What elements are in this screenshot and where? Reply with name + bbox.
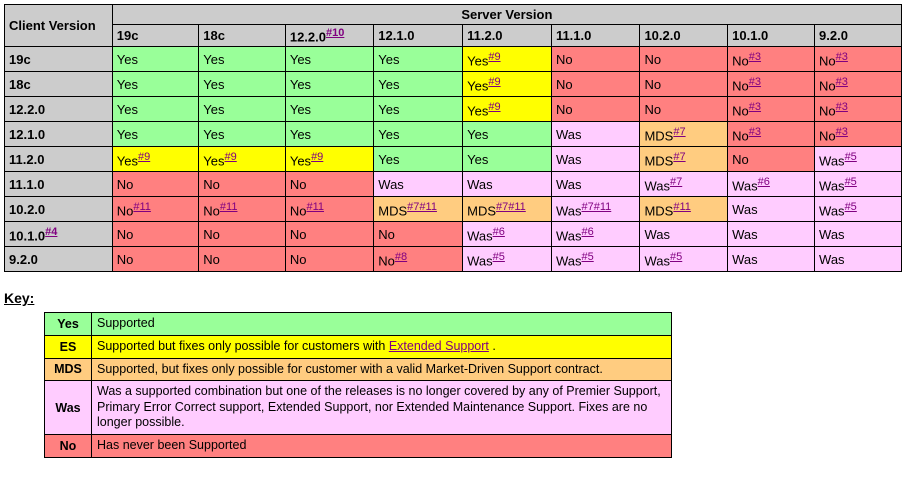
footnote-link[interactable]: #7 (673, 151, 685, 163)
footnote-anchor[interactable]: #9 (138, 151, 150, 163)
support-status-cell: Was (728, 222, 815, 247)
support-status-cell: No (728, 147, 815, 172)
support-status-cell: No (285, 172, 373, 197)
key-body: YesSupportedESSupported but fixes only p… (45, 313, 672, 457)
support-status-cell: Yes#9 (285, 147, 373, 172)
support-status-label: Was (819, 178, 845, 193)
server-version-column-header: 19c (112, 25, 199, 47)
support-status-cell: No (199, 222, 286, 247)
table-row: 19cYesYesYesYesYes#9NoNoNo#3No#3 (5, 47, 902, 72)
support-status-label: Was (819, 153, 845, 168)
support-status-cell: No (640, 47, 728, 72)
key-row: ESSupported but fixes only possible for … (45, 335, 672, 358)
support-status-label: No (203, 252, 220, 267)
support-status-cell: Yes (112, 47, 199, 72)
client-version-row-header: 10.2.0 (5, 197, 113, 222)
footnote-anchor[interactable]: #3 (836, 101, 848, 113)
support-status-label: Yes (203, 127, 224, 142)
footnote-link[interactable]: #11 (306, 201, 324, 213)
support-status-label: No (378, 253, 395, 268)
footnote-link[interactable]: #3 (836, 51, 848, 63)
footnote-anchor[interactable]: #11 (133, 201, 151, 213)
support-status-label: Was (644, 253, 670, 268)
support-status-cell: No (112, 222, 199, 247)
support-status-cell: Yes (112, 122, 199, 147)
footnote-anchor[interactable]: #5 (845, 176, 857, 188)
footnote-anchor[interactable]: #9 (311, 151, 323, 163)
support-status-label: Was (556, 177, 582, 192)
table-row: 10.2.0No#11No#11No#11MDS#7#11MDS#7#11Was… (5, 197, 902, 222)
footnote-link[interactable]: #5 (581, 251, 593, 263)
support-status-label: No (819, 128, 836, 143)
footnote-anchor[interactable]: #3 (749, 126, 761, 138)
footnote-anchor[interactable]: #6 (581, 226, 593, 238)
client-version-row-header: 12.1.0 (5, 122, 113, 147)
support-status-cell: Yes (374, 147, 463, 172)
support-status-label: No (732, 128, 749, 143)
support-status-label: Was (644, 178, 670, 193)
column-label: 18c (203, 28, 225, 43)
footnote-link[interactable]: #6 (493, 226, 505, 238)
footnote-link[interactable]: #3 (749, 101, 761, 113)
server-version-column-header: 11.1.0 (551, 25, 640, 47)
support-status-cell: MDS#11 (640, 197, 728, 222)
support-status-cell: No#3 (815, 122, 902, 147)
support-status-cell: Yes (374, 47, 463, 72)
support-status-cell: MDS#7 (640, 147, 728, 172)
support-status-label: Was (556, 253, 582, 268)
server-version-column-header: 9.2.0 (815, 25, 902, 47)
support-status-label: Yes (467, 152, 488, 167)
table-row: 11.2.0Yes#9Yes#9Yes#9YesYesWasMDS#7NoWas… (5, 147, 902, 172)
support-status-cell: Was (551, 172, 640, 197)
support-status-cell: Was (815, 222, 902, 247)
support-status-cell: Yes#9 (463, 97, 552, 122)
footnote-anchor[interactable]: #5 (581, 251, 593, 263)
key-description: Supported, but fixes only possible for c… (92, 358, 672, 381)
client-version-row-header: 10.1.0#4 (5, 222, 113, 247)
support-status-label: Was (732, 178, 758, 193)
support-status-cell: Was#5 (640, 247, 728, 272)
support-status-label: Yes (378, 52, 399, 67)
server-version-column-header: 18c (199, 25, 286, 47)
key-row: YesSupported (45, 313, 672, 336)
footnote-link[interactable]: #7 (673, 126, 685, 138)
column-label: 10.1.0 (732, 28, 768, 43)
key-description-text-tail: . (489, 339, 496, 353)
footnote-anchor[interactable]: #3 (749, 101, 761, 113)
key-row: MDSSupported, but fixes only possible fo… (45, 358, 672, 381)
key-title: Key: (4, 290, 902, 306)
support-status-label: Was (556, 152, 582, 167)
footnote-link[interactable]: #3 (749, 51, 761, 63)
footnote-link[interactable]: #9 (488, 51, 500, 63)
server-version-column-header: 12.1.0 (374, 25, 463, 47)
footnote-anchor[interactable]: #3 (749, 51, 761, 63)
row-label: 12.2.0 (9, 102, 45, 117)
support-status-label: No (819, 103, 836, 118)
footnote-link[interactable]: #3 (836, 101, 848, 113)
column-label: 11.1.0 (556, 28, 591, 43)
support-status-cell: No#3 (728, 122, 815, 147)
footnote-anchor[interactable]: #7#11 (581, 201, 611, 213)
support-status-cell: No (112, 247, 199, 272)
support-status-cell: No (551, 97, 640, 122)
matrix-header-row-2: 19c18c12.2.0#1012.1.011.2.011.1.010.2.01… (5, 25, 902, 47)
row-label: 9.2.0 (9, 252, 38, 267)
key-row: WasWas a supported combination but one o… (45, 381, 672, 435)
support-status-cell: No (640, 72, 728, 97)
client-version-row-header: 11.2.0 (5, 147, 113, 172)
support-status-label: Yes (203, 52, 224, 67)
support-status-cell: Was (728, 247, 815, 272)
support-status-cell: No#3 (815, 72, 902, 97)
extended-support-link[interactable]: Extended Support (389, 339, 489, 353)
footnote-link[interactable]: #5 (845, 201, 857, 213)
page-root: Client Version Server Version 19c18c12.2… (0, 0, 902, 477)
support-status-label: MDS (644, 153, 673, 168)
support-status-cell: No (374, 222, 463, 247)
support-status-label: No (117, 252, 134, 267)
support-status-cell: Yes (112, 97, 199, 122)
support-status-label: No (117, 227, 134, 242)
support-status-label: No (556, 102, 573, 117)
support-status-label: No (644, 77, 661, 92)
column-label: 9.2.0 (819, 28, 848, 43)
support-status-cell: Yes (374, 97, 463, 122)
support-status-label: Yes (290, 102, 311, 117)
footnote-link[interactable]: #8 (395, 251, 407, 263)
support-status-label: MDS (467, 203, 496, 218)
support-status-cell: Was (463, 172, 552, 197)
support-status-label: Yes (467, 53, 488, 68)
support-status-label: No (732, 53, 749, 68)
support-status-cell: No#3 (815, 97, 902, 122)
support-status-cell: No#3 (728, 47, 815, 72)
support-status-label: No (732, 78, 749, 93)
support-status-cell: Yes (285, 72, 373, 97)
support-status-label: Was (467, 177, 493, 192)
support-status-label: Yes (203, 153, 224, 168)
support-status-label: Yes (290, 52, 311, 67)
support-status-label: Was (732, 227, 758, 242)
support-status-label: Was (644, 227, 670, 242)
support-status-cell: Yes (374, 72, 463, 97)
support-status-cell: Yes (112, 72, 199, 97)
key-description-text: Supported, but fixes only possible for c… (97, 362, 603, 376)
support-status-label: Yes (467, 127, 488, 142)
support-status-cell: Was#5 (551, 247, 640, 272)
support-status-cell: No#3 (728, 72, 815, 97)
footnote-link[interactable]: #9 (225, 151, 237, 163)
support-status-label: No (117, 177, 134, 192)
support-status-cell: MDS#7#11 (463, 197, 552, 222)
support-status-label: Was (556, 127, 582, 142)
support-status-cell: Yes#9 (463, 47, 552, 72)
footnote-link[interactable]: #3 (836, 126, 848, 138)
table-row: 12.2.0YesYesYesYesYes#9NoNoNo#3No#3 (5, 97, 902, 122)
footnote-anchor[interactable]: #5 (845, 201, 857, 213)
footnote-link[interactable]: #5 (493, 251, 505, 263)
footnote-link[interactable]: #5 (845, 176, 857, 188)
support-status-cell: Was (551, 147, 640, 172)
support-status-cell: No (285, 222, 373, 247)
support-status-label: No (556, 77, 573, 92)
support-status-label: Was (467, 228, 493, 243)
footnote-link[interactable]: #11 (133, 201, 151, 213)
footnote-link[interactable]: #7#11 (407, 201, 437, 213)
support-status-label: No (644, 102, 661, 117)
support-status-cell: Was (728, 197, 815, 222)
key-description-text: Supported but fixes only possible for cu… (97, 339, 389, 353)
server-version-header: Server Version (112, 5, 901, 25)
client-version-row-header: 9.2.0 (5, 247, 113, 272)
support-status-cell: No#11 (285, 197, 373, 222)
server-version-column-header: 10.2.0 (640, 25, 728, 47)
support-status-label: Was (819, 227, 845, 242)
support-status-cell: No#3 (728, 97, 815, 122)
support-status-cell: No#8 (374, 247, 463, 272)
support-status-label: Was (467, 253, 493, 268)
footnote-anchor[interactable]: #3 (836, 126, 848, 138)
support-status-label: No (117, 203, 134, 218)
footnote-link[interactable]: #3 (749, 76, 761, 88)
matrix-body: Client Version Server Version 19c18c12.2… (5, 5, 902, 272)
footnote-anchor[interactable]: #6 (758, 176, 770, 188)
footnote-anchor[interactable]: #6 (493, 226, 505, 238)
support-status-label: Yes (378, 102, 399, 117)
key-term: No (45, 435, 92, 458)
support-status-label: Was (378, 177, 404, 192)
support-status-cell: Yes (199, 122, 286, 147)
row-label: 10.1.0 (9, 228, 45, 243)
footnote-link[interactable]: #7#11 (496, 201, 526, 213)
support-status-label: No (290, 203, 307, 218)
footnote-link[interactable]: #9 (488, 76, 500, 88)
footnote-link[interactable]: #7#11 (581, 201, 611, 213)
support-status-cell: Yes#9 (112, 147, 199, 172)
support-status-cell: Was#7 (640, 172, 728, 197)
support-status-cell: Was#5 (815, 197, 902, 222)
footnote-anchor[interactable]: #9 (488, 76, 500, 88)
key-row: NoHas never been Supported (45, 435, 672, 458)
key-description: Supported (92, 313, 672, 336)
key-description-text: Supported (97, 316, 155, 330)
support-status-label: Yes (467, 78, 488, 93)
support-status-label: No (290, 252, 307, 267)
column-label: 12.1.0 (378, 28, 414, 43)
row-label: 11.1.0 (9, 177, 44, 192)
support-status-label: Yes (203, 77, 224, 92)
support-status-cell: Was#5 (815, 147, 902, 172)
footnote-link[interactable]: #9 (488, 101, 500, 113)
footnote-anchor[interactable]: #7 (670, 176, 682, 188)
support-status-label: No (203, 203, 220, 218)
footnote-anchor[interactable]: #5 (670, 251, 682, 263)
footnote-link[interactable]: #3 (749, 126, 761, 138)
key-term: MDS (45, 358, 92, 381)
support-status-cell: Was (551, 122, 640, 147)
table-row: 9.2.0NoNoNoNo#8Was#5Was#5Was#5WasWas (5, 247, 902, 272)
footnote-anchor[interactable]: #3 (836, 76, 848, 88)
support-status-cell: Yes (463, 147, 552, 172)
key-description: Supported but fixes only possible for cu… (92, 335, 672, 358)
support-status-label: MDS (644, 128, 673, 143)
support-status-label: MDS (644, 203, 673, 218)
support-status-label: Yes (117, 153, 138, 168)
column-label: 10.2.0 (644, 28, 680, 43)
support-status-label: No (644, 52, 661, 67)
support-status-label: Yes (203, 102, 224, 117)
support-status-cell: No (551, 72, 640, 97)
footnote-anchor[interactable]: #3 (836, 51, 848, 63)
footnote-link[interactable]: #9 (138, 151, 150, 163)
support-status-cell: Was (815, 247, 902, 272)
support-status-cell: Was (640, 222, 728, 247)
support-status-cell: Yes (463, 122, 552, 147)
support-status-label: No (203, 227, 220, 242)
support-status-cell: No#3 (815, 47, 902, 72)
support-status-label: No (732, 103, 749, 118)
footnote-anchor[interactable]: #9 (488, 51, 500, 63)
support-status-label: Yes (117, 127, 138, 142)
footnote-anchor[interactable]: #11 (673, 201, 691, 213)
matrix-header-row-1: Client Version Server Version (5, 5, 902, 25)
support-status-label: No (732, 152, 749, 167)
footnote-anchor[interactable]: #3 (749, 76, 761, 88)
footnote-link[interactable]: #10 (326, 27, 344, 39)
support-status-cell: Yes (374, 122, 463, 147)
footnote-anchor[interactable]: #7#11 (496, 201, 526, 213)
client-version-row-header: 12.2.0 (5, 97, 113, 122)
compatibility-matrix: Client Version Server Version 19c18c12.2… (4, 4, 902, 272)
key-term: Was (45, 381, 92, 435)
footnote-anchor[interactable]: #7#11 (407, 201, 437, 213)
table-row: 18cYesYesYesYesYes#9NoNoNo#3No#3 (5, 72, 902, 97)
client-version-row-header: 19c (5, 47, 113, 72)
column-label: 12.2.0 (290, 29, 326, 44)
support-status-cell: Yes#9 (463, 72, 552, 97)
support-status-cell: Was#6 (463, 222, 552, 247)
footnote-anchor[interactable]: #7 (673, 126, 685, 138)
support-status-label: Was (556, 228, 582, 243)
support-status-label: Yes (378, 77, 399, 92)
support-status-cell: Yes (199, 72, 286, 97)
support-status-label: Yes (467, 103, 488, 118)
column-label: 11.2.0 (467, 28, 502, 43)
row-label: 10.2.0 (9, 202, 45, 217)
row-label: 18c (9, 77, 31, 92)
support-status-label: Was (732, 202, 758, 217)
column-label: 19c (117, 28, 139, 43)
support-status-label: Yes (117, 102, 138, 117)
key-table: YesSupportedESSupported but fixes only p… (44, 312, 672, 457)
footnote-link[interactable]: #6 (581, 226, 593, 238)
footnote-anchor[interactable]: #5 (845, 151, 857, 163)
support-status-label: No (290, 227, 307, 242)
footnote-link[interactable]: #11 (673, 201, 691, 213)
support-status-label: Was (732, 252, 758, 267)
client-version-row-header: 11.1.0 (5, 172, 113, 197)
footnote-anchor[interactable]: #10 (326, 27, 344, 39)
footnote-link[interactable]: #11 (220, 201, 238, 213)
footnote-anchor[interactable]: #4 (45, 226, 57, 238)
support-status-label: No (290, 177, 307, 192)
footnote-anchor[interactable]: #8 (395, 251, 407, 263)
support-status-cell: No#11 (112, 197, 199, 222)
footnote-anchor[interactable]: #5 (493, 251, 505, 263)
server-version-column-header: 12.2.0#10 (285, 25, 373, 47)
support-status-label: Yes (290, 127, 311, 142)
footnote-link[interactable]: #6 (758, 176, 770, 188)
footnote-link[interactable]: #4 (45, 226, 57, 238)
footnote-anchor[interactable]: #11 (306, 201, 324, 213)
table-row: 11.1.0NoNoNoWasWasWasWas#7Was#6Was#5 (5, 172, 902, 197)
table-row: 12.1.0YesYesYesYesYesWasMDS#7No#3No#3 (5, 122, 902, 147)
row-label: 19c (9, 52, 31, 67)
support-status-label: No (378, 227, 395, 242)
support-status-cell: Yes#9 (199, 147, 286, 172)
support-status-cell: No (112, 172, 199, 197)
footnote-anchor[interactable]: #9 (488, 101, 500, 113)
row-label: 11.2.0 (9, 152, 44, 167)
support-status-cell: No (199, 247, 286, 272)
support-status-cell: MDS#7 (640, 122, 728, 147)
key-description: Has never been Supported (92, 435, 672, 458)
table-row: 10.1.0#4NoNoNoNoWas#6Was#6WasWasWas (5, 222, 902, 247)
support-status-cell: Was (374, 172, 463, 197)
key-term: Yes (45, 313, 92, 336)
support-status-label: No (203, 177, 220, 192)
footnote-anchor[interactable]: #7 (673, 151, 685, 163)
key-description: Was a supported combination but one of t… (92, 381, 672, 435)
footnote-anchor[interactable]: #9 (225, 151, 237, 163)
support-status-cell: MDS#7#11 (374, 197, 463, 222)
server-version-column-header: 10.1.0 (728, 25, 815, 47)
support-status-label: No (556, 52, 573, 67)
support-status-label: Yes (378, 152, 399, 167)
client-version-row-header: 18c (5, 72, 113, 97)
support-status-cell: No#11 (199, 197, 286, 222)
support-status-cell: No (285, 247, 373, 272)
footnote-link[interactable]: #5 (670, 251, 682, 263)
support-status-cell: Was#5 (463, 247, 552, 272)
support-status-cell: No (640, 97, 728, 122)
footnote-link[interactable]: #5 (845, 151, 857, 163)
support-status-label: Was (819, 252, 845, 267)
support-status-label: Was (819, 203, 845, 218)
support-status-label: Yes (378, 127, 399, 142)
key-term: ES (45, 335, 92, 358)
support-status-label: Yes (290, 153, 311, 168)
support-status-label: Yes (117, 52, 138, 67)
support-status-label: Yes (117, 77, 138, 92)
footnote-link[interactable]: #9 (311, 151, 323, 163)
support-status-cell: Yes (285, 122, 373, 147)
footnote-link[interactable]: #7 (670, 176, 682, 188)
support-status-label: Yes (290, 77, 311, 92)
support-status-cell: No (551, 47, 640, 72)
support-status-label: MDS (378, 203, 407, 218)
support-status-label: Was (556, 203, 582, 218)
footnote-anchor[interactable]: #11 (220, 201, 238, 213)
footnote-link[interactable]: #3 (836, 76, 848, 88)
support-status-cell: Was#5 (815, 172, 902, 197)
support-status-cell: No (199, 172, 286, 197)
support-status-label: No (819, 78, 836, 93)
support-status-label: No (819, 53, 836, 68)
support-status-cell: Yes (285, 97, 373, 122)
